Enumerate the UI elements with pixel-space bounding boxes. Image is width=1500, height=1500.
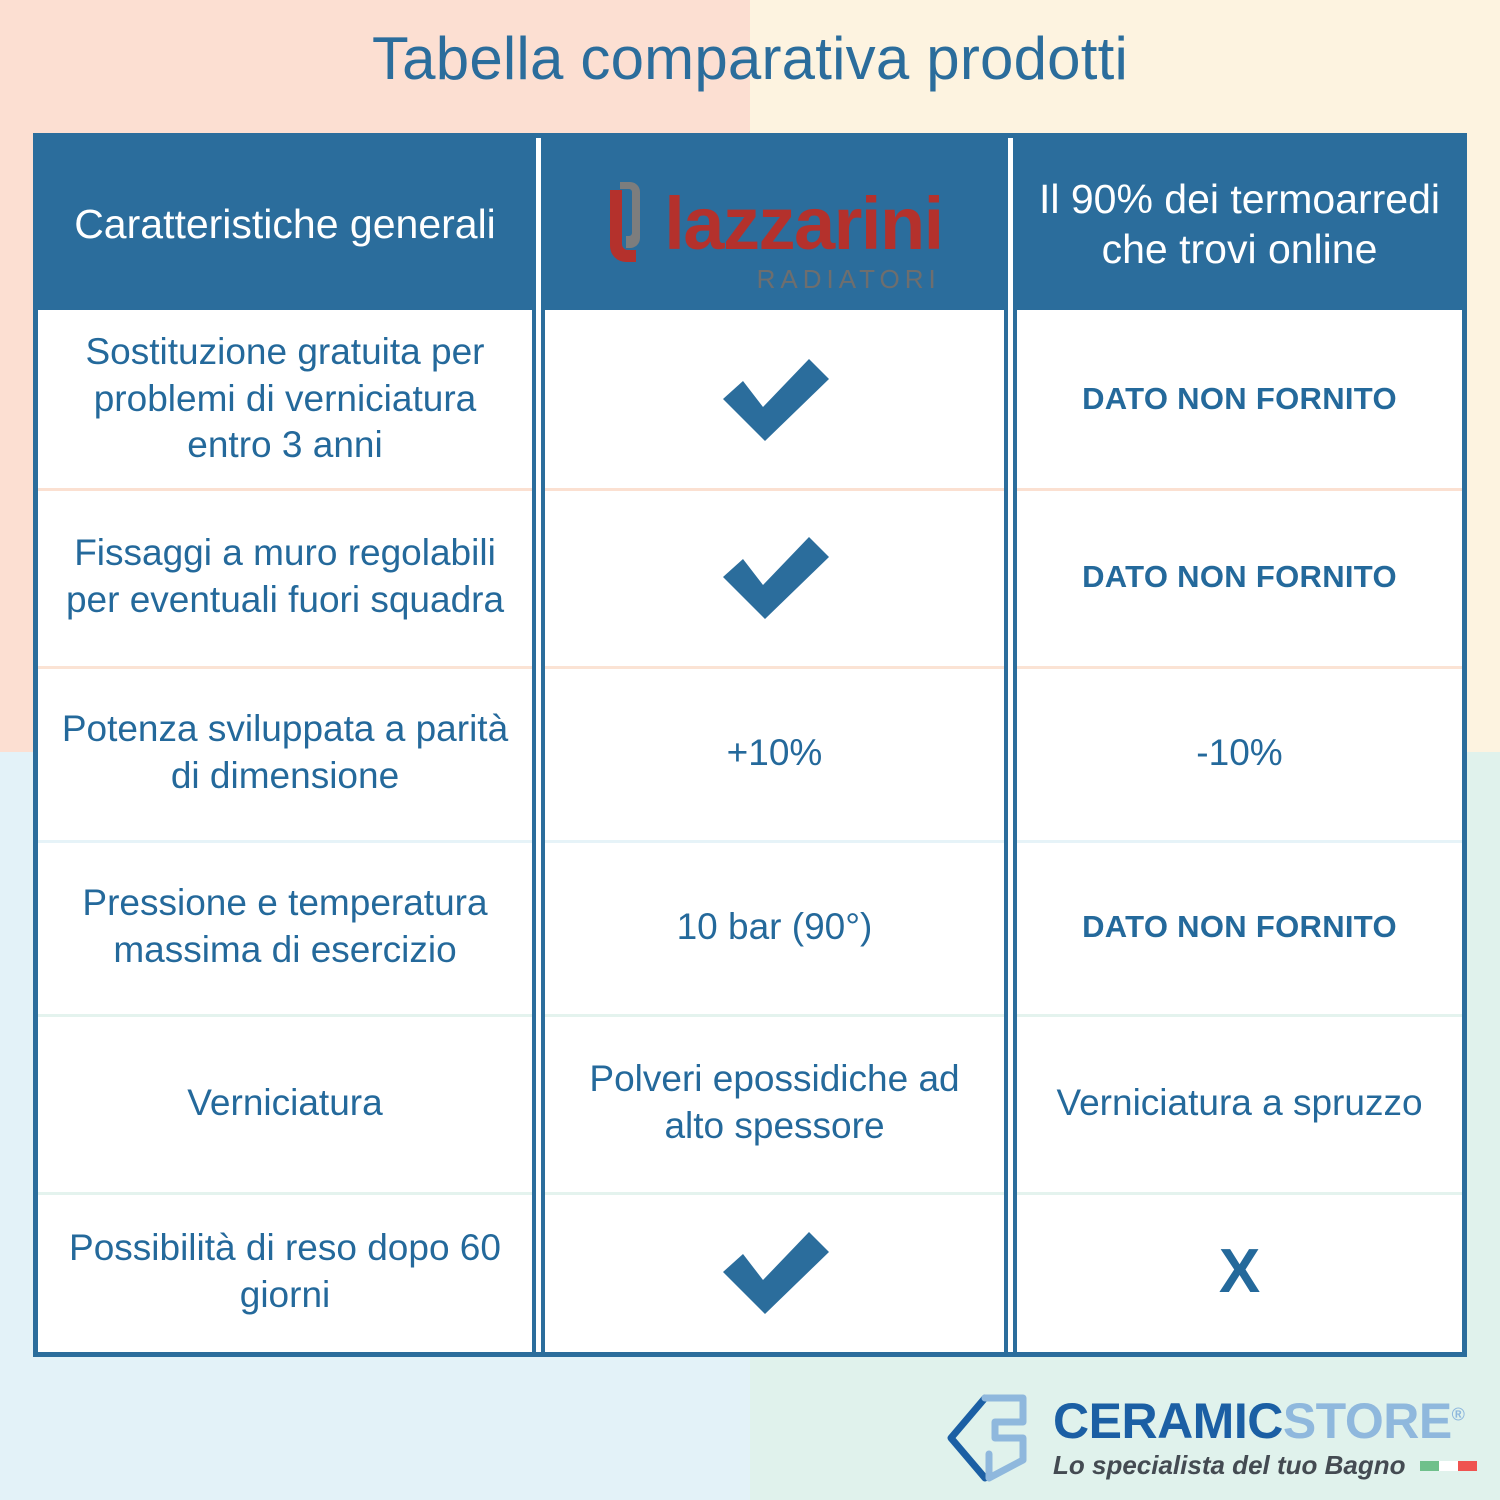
- check-icon: [715, 1226, 835, 1318]
- feature-label: Potenza sviluppata a parità di dimension…: [38, 666, 532, 840]
- lazzarini-value: [545, 488, 1004, 666]
- column-divider: [532, 1192, 545, 1352]
- column-divider: [1004, 840, 1017, 1014]
- column-divider: [1004, 488, 1017, 666]
- column-divider: [532, 1014, 545, 1192]
- table-row: Verniciatura Polveri epossidiche ad alto…: [38, 1014, 1462, 1192]
- competitor-value: DATO NON FORNITO: [1017, 310, 1462, 488]
- lazzarini-subtitle: RADIATORI: [757, 266, 941, 292]
- table-header-competitors: Il 90% dei termoarredi che trovi online: [1017, 138, 1462, 310]
- column-divider: [532, 310, 545, 488]
- feature-label: Fissaggi a muro regolabili per eventuali…: [38, 488, 532, 666]
- brand-name-primary: CERAMIC: [1053, 1393, 1283, 1449]
- registered-trademark-icon: ®: [1452, 1404, 1465, 1424]
- table-row: Possibilità di reso dopo 60 giorni X: [38, 1192, 1462, 1352]
- brand-tagline: Lo specialista del tuo Bagno: [1053, 1450, 1406, 1481]
- lazzarini-logo: lazzarini RADIATORI: [559, 176, 990, 272]
- ceramicstore-wordmark: CERAMICSTORE®: [1053, 1395, 1478, 1447]
- competitor-value: X: [1017, 1192, 1462, 1352]
- table-body: Sostituzione gratuita per problemi di ve…: [38, 310, 1462, 1352]
- comparison-table: Caratteristiche generali lazzarini RADIA…: [33, 133, 1467, 1357]
- page-title: Tabella comparativa prodotti: [0, 24, 1500, 93]
- feature-label: Sostituzione gratuita per problemi di ve…: [38, 310, 532, 488]
- column-divider: [1004, 1014, 1017, 1192]
- column-divider: [532, 840, 545, 1014]
- row-separator: [38, 666, 1462, 669]
- table-header-features: Caratteristiche generali: [38, 138, 532, 310]
- row-separator: [38, 1192, 1462, 1195]
- row-separator: [38, 1014, 1462, 1017]
- table-header-lazzarini: lazzarini RADIATORI: [545, 138, 1004, 310]
- lazzarini-value: +10%: [545, 666, 1004, 840]
- competitor-value: Verniciatura a spruzzo: [1017, 1014, 1462, 1192]
- italian-flag-icon: [1420, 1461, 1478, 1471]
- row-separator: [38, 840, 1462, 843]
- table-row: Sostituzione gratuita per problemi di ve…: [38, 310, 1462, 488]
- column-divider: [1004, 1192, 1017, 1352]
- lazzarini-value: [545, 310, 1004, 488]
- column-divider: [532, 138, 545, 310]
- feature-label: Possibilità di reso dopo 60 giorni: [38, 1192, 532, 1352]
- ceramicstore-logo: CERAMICSTORE® Lo specialista del tuo Bag…: [945, 1392, 1478, 1484]
- table-row: Potenza sviluppata a parità di dimension…: [38, 666, 1462, 840]
- column-divider: [532, 488, 545, 666]
- table-row: Pressione e temperatura massima di eserc…: [38, 840, 1462, 1014]
- ceramicstore-mark-icon: [945, 1392, 1037, 1484]
- table-row: Fissaggi a muro regolabili per eventuali…: [38, 488, 1462, 666]
- column-divider: [1004, 666, 1017, 840]
- feature-label: Verniciatura: [38, 1014, 532, 1192]
- lazzarini-wordmark: lazzarini: [664, 189, 943, 259]
- feature-label: Pressione e temperatura massima di eserc…: [38, 840, 532, 1014]
- table-header-row: Caratteristiche generali lazzarini RADIA…: [38, 138, 1462, 310]
- x-mark-icon: X: [1219, 1241, 1260, 1303]
- row-separator: [38, 488, 1462, 491]
- brand-name-secondary: STORE: [1283, 1393, 1452, 1449]
- check-icon: [715, 531, 835, 623]
- lazzarini-value: Polveri epossidiche ad alto spessore: [545, 1014, 1004, 1192]
- column-divider: [1004, 138, 1017, 310]
- lazzarini-value: [545, 1192, 1004, 1352]
- competitor-value: DATO NON FORNITO: [1017, 840, 1462, 1014]
- competitor-value: DATO NON FORNITO: [1017, 488, 1462, 666]
- column-divider: [1004, 310, 1017, 488]
- lazzarini-value: 10 bar (90°): [545, 840, 1004, 1014]
- check-icon: [715, 353, 835, 445]
- row-separator: [38, 310, 1462, 313]
- lazzarini-mark-icon: [606, 176, 654, 272]
- column-divider: [532, 666, 545, 840]
- competitor-value: -10%: [1017, 666, 1462, 840]
